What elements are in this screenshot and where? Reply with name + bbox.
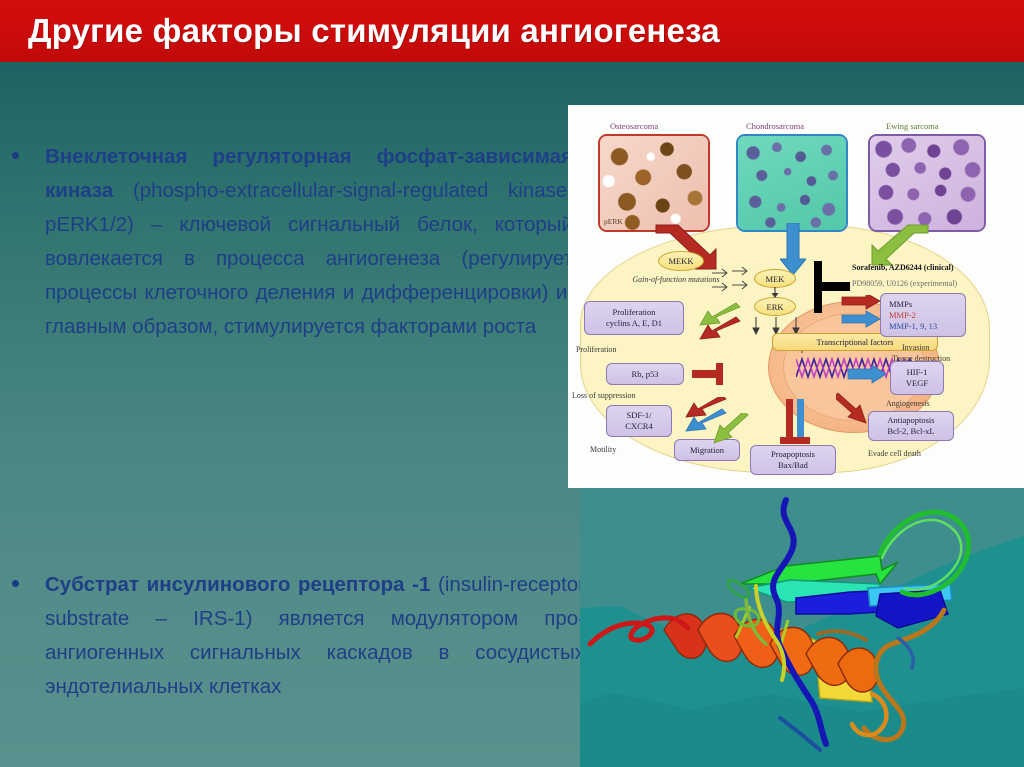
kinase-node-mek: MEK xyxy=(754,269,796,288)
caption-loss-of-suppression: Loss of suppression xyxy=(572,391,636,401)
outcome-box-hif-vegf: HIF-1 VEGF xyxy=(890,361,944,395)
inhibition-rb-p53-icon xyxy=(686,361,726,387)
outcome-box-mmps: MMPs MMP-2 MMP-1, 9, 13 xyxy=(880,293,966,337)
perk-stain-tag: pERK xyxy=(604,217,623,226)
page-title: Другие факторы стимуляции ангиогенеза xyxy=(28,12,720,50)
caption-proliferation: Proliferation xyxy=(576,345,616,355)
outcome-line-mmp2: MMP-2 xyxy=(889,310,916,321)
kinase-node-erk: ERK xyxy=(754,297,796,316)
outcome-box-proapoptosis: Proapoptosis Bax/Bad xyxy=(750,445,836,475)
outcome-box-rb-p53: Rb, p53 xyxy=(606,363,684,385)
bullet-item-2: Субстрат инсулинового рецептора -1 (insu… xyxy=(12,568,602,704)
outcome-line: VEGF xyxy=(906,378,928,389)
mek-inhibitor-bar xyxy=(814,261,822,313)
caption-angiogenesis: Angiogenesis xyxy=(886,399,930,409)
title-banner: Другие факторы стимуляции ангиогенеза xyxy=(0,0,1024,62)
kinase-node-mekk: MEKK xyxy=(658,251,704,271)
outcome-line: HIF-1 xyxy=(907,367,928,378)
mek-to-erk-arrow-icon xyxy=(768,287,782,299)
outcome-line: cyclins A, E, D1 xyxy=(606,318,662,329)
cascade-arrows-icon xyxy=(710,263,756,297)
bullet-1-rest: (phospho-extracellular-signal-regulated … xyxy=(45,179,573,338)
nucleus-to-proliferation-arrows-icon xyxy=(686,301,742,341)
histology-image-ewing-sarcoma xyxy=(868,134,986,232)
histology-label-chondrosarcoma: Chondrosarcoma xyxy=(746,121,804,131)
outcome-line: Bax/Bad xyxy=(778,460,808,471)
histology-image-chondrosarcoma xyxy=(736,134,848,232)
caption-invasion: Invasion xyxy=(902,343,930,353)
outcome-line-mmp1913: MMP-1, 9, 13 xyxy=(889,321,937,332)
protein-structure-image xyxy=(580,488,1024,767)
outcome-line: Proliferation xyxy=(613,307,656,318)
nucleus-to-antiapoptosis-arrow-icon xyxy=(836,391,878,425)
gain-of-function-note: Gain-of-function mutations xyxy=(630,275,722,285)
caption-evade-cell-death: Evade cell death xyxy=(868,449,921,459)
green-funnel-arrow-icon xyxy=(868,223,932,267)
outcome-line: Antiapoptosis xyxy=(887,415,934,426)
outcome-line: MMPs xyxy=(889,299,912,310)
bullet-1-text: Внеклеточная регуляторная фосфат-зависим… xyxy=(45,140,573,344)
nucleus-to-mmps-arrows-icon xyxy=(840,295,882,335)
bullet-marker-icon xyxy=(12,580,19,587)
outcome-box-sdf1-cxcr4: SDF-1/ CXCR4 xyxy=(606,405,672,437)
outcome-line: CXCR4 xyxy=(625,421,652,432)
outcome-line: Bcl-2, Bcl-xL xyxy=(887,426,934,437)
bullet-2-text: Субстрат инсулинового рецептора -1 (insu… xyxy=(45,568,585,704)
outcome-line: SDF-1/ xyxy=(626,410,651,421)
pathway-diagram-image: Osteosarcoma Chondrosarcoma Ewing sarcom… xyxy=(568,105,1024,488)
protein-ribbon-svg xyxy=(580,488,1024,767)
blue-funnel-arrow-icon xyxy=(780,223,806,277)
nucleus-to-hif-arrow-icon xyxy=(846,365,888,385)
inhibitor-clinical-label: Sorafenib, AZD6244 (clinical) xyxy=(852,263,954,272)
outcome-line: Rb, p53 xyxy=(632,369,659,380)
bullet-item-1: Внеклеточная регуляторная фосфат-зависим… xyxy=(12,140,582,344)
inhibitor-experimental-label: PD98059, U0126 (experimental) xyxy=(852,279,957,288)
histology-label-ewing-sarcoma: Ewing sarcoma xyxy=(886,121,939,131)
bullet-marker-icon xyxy=(12,152,19,159)
proapoptosis-inhibition-icon xyxy=(780,399,812,449)
caption-motility: Motility xyxy=(590,445,616,455)
outcome-box-proliferation: Proliferation cyclins A, E, D1 xyxy=(584,301,684,335)
histology-label-osteosarcoma: Osteosarcoma xyxy=(610,121,658,131)
nucleus-to-migration-arrow-icon xyxy=(712,413,752,447)
mek-inhibitor-stem xyxy=(822,282,850,291)
slide-canvas: Другие факторы стимуляции ангиогенеза Вн… xyxy=(0,0,1024,767)
outcome-box-antiapoptosis: Antiapoptosis Bcl-2, Bcl-xL xyxy=(868,411,954,441)
outcome-line: Proapoptosis xyxy=(771,449,815,460)
bullet-2-bold-lead: Субстрат инсулинового рецептора -1 xyxy=(45,573,430,596)
